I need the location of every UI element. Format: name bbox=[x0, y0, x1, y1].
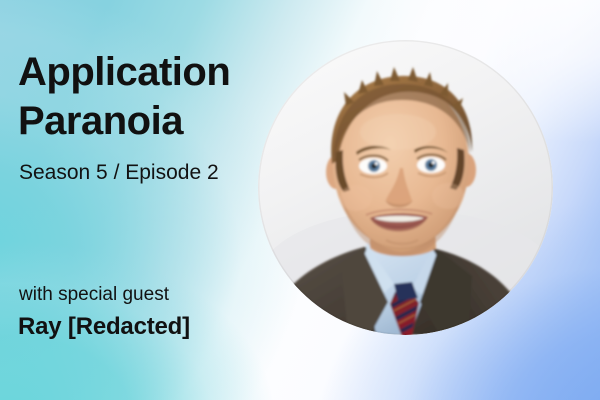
text-content-block: Application Paranoia Season 5 / Episode … bbox=[18, 0, 268, 400]
portrait-photo-illustration bbox=[258, 40, 553, 335]
guest-intro-label: with special guest bbox=[19, 283, 169, 306]
season-episode-subtitle: Season 5 / Episode 2 bbox=[19, 160, 219, 186]
show-title: Application Paranoia bbox=[18, 48, 230, 146]
guest-portrait-avatar bbox=[258, 40, 553, 335]
guest-name: Ray [Redacted] bbox=[18, 312, 190, 341]
episode-card: Application Paranoia Season 5 / Episode … bbox=[0, 0, 600, 400]
